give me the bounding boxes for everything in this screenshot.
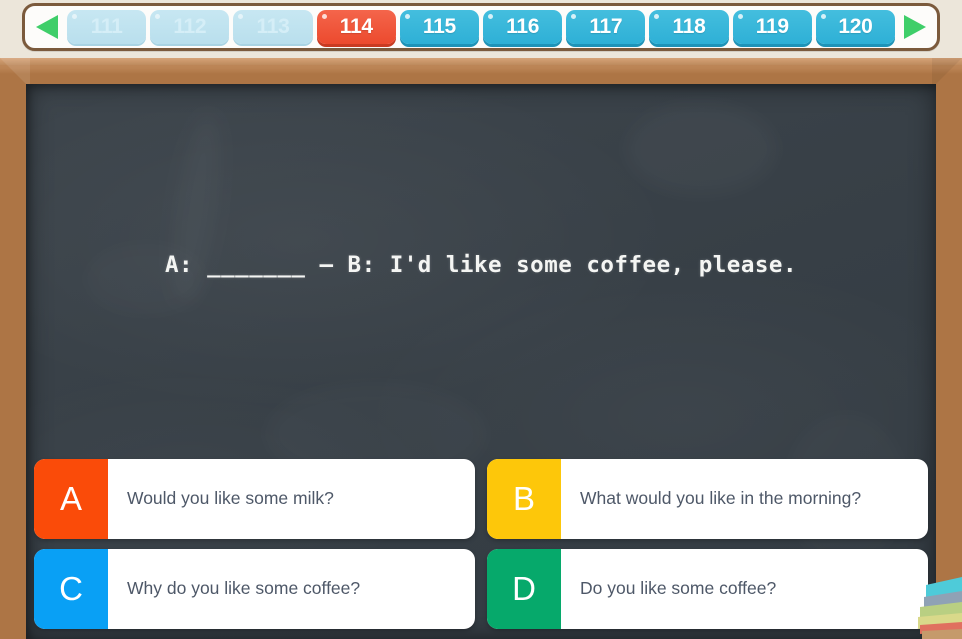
page-tab-115[interactable]: 115: [400, 10, 479, 44]
page-tab-120[interactable]: 120: [816, 10, 895, 44]
page-tab-116[interactable]: 116: [483, 10, 562, 44]
answer-text-b: What would you like in the morning?: [561, 459, 928, 539]
answer-letter-badge-a: A: [34, 459, 108, 539]
answer-option-a[interactable]: AWould you like some milk?: [34, 459, 475, 539]
triangle-right-icon: [902, 13, 928, 41]
next-page-button[interactable]: [900, 10, 930, 44]
answer-letter-badge-c: C: [34, 549, 108, 629]
page-tab-118[interactable]: 118: [649, 10, 728, 44]
page-navigation-bar: 111112113114115116117118119120: [22, 3, 940, 51]
question-prompt: A: _______ – B: I'd like some coffee, pl…: [26, 252, 936, 278]
triangle-left-icon: [34, 13, 60, 41]
chalk-smudge: [626, 104, 776, 194]
page-tab-117[interactable]: 117: [566, 10, 645, 44]
chalkboard-frame: A: _______ – B: I'd like some coffee, pl…: [0, 58, 962, 639]
frame-bevel-top-right: [932, 58, 962, 88]
answer-letter-badge-d: D: [487, 549, 561, 629]
answer-text-d: Do you like some coffee?: [561, 549, 928, 629]
page-tab-112: 112: [150, 10, 229, 44]
page-tabs-strip: 111112113114115116117118119120: [62, 6, 900, 48]
prev-page-button[interactable]: [32, 10, 62, 44]
page-tab-113: 113: [233, 10, 312, 44]
answer-text-c: Why do you like some coffee?: [108, 549, 475, 629]
page-tab-114[interactable]: 114: [317, 10, 396, 44]
answer-letter-badge-b: B: [487, 459, 561, 539]
answer-option-c[interactable]: CWhy do you like some coffee?: [34, 549, 475, 629]
answer-option-b[interactable]: BWhat would you like in the morning?: [487, 459, 928, 539]
answer-text-a: Would you like some milk?: [108, 459, 475, 539]
page-tab-119[interactable]: 119: [733, 10, 812, 44]
answer-options-grid: AWould you like some milk?BWhat would yo…: [34, 459, 928, 629]
page-tab-111: 111: [67, 10, 146, 44]
chalkboard-surface: A: _______ – B: I'd like some coffee, pl…: [26, 84, 936, 639]
answer-option-d[interactable]: DDo you like some coffee?: [487, 549, 928, 629]
